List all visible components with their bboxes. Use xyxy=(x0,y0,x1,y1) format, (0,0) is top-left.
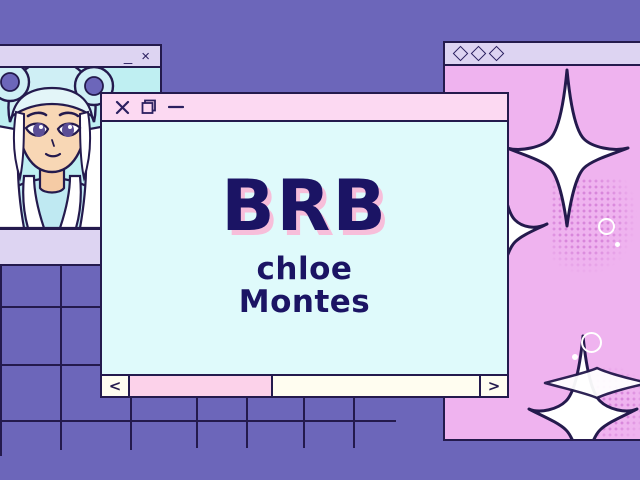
sparkle-star-bottom xyxy=(543,366,640,400)
restore-window-icon[interactable] xyxy=(141,99,157,115)
diamond-icon xyxy=(453,46,469,62)
scroll-left-button[interactable]: < xyxy=(102,376,130,396)
sparkles-panel-titlebar xyxy=(445,43,640,66)
halftone-dots xyxy=(565,366,640,439)
grid-line-horizontal xyxy=(0,306,100,308)
minimize-icon[interactable] xyxy=(168,103,184,111)
diamond-icon xyxy=(489,46,505,62)
subtitle-line-2: Montes xyxy=(239,286,371,319)
brb-window-content: BRB chloe Montes xyxy=(102,122,507,374)
subtitle-line-1: chloe xyxy=(257,253,353,286)
sparkle-star-large xyxy=(505,68,630,228)
close-icon[interactable] xyxy=(115,100,130,115)
decor-dot-icon xyxy=(572,354,578,360)
scrollbar-thumb[interactable] xyxy=(130,376,273,396)
screenshot-canvas: _ × xyxy=(0,0,640,480)
scroll-right-button[interactable]: > xyxy=(479,376,507,396)
grid-line-horizontal xyxy=(0,364,100,366)
scrollbar-track[interactable] xyxy=(130,376,479,396)
decor-dot-icon xyxy=(615,242,620,247)
decor-circle-icon xyxy=(581,332,602,353)
close-icon[interactable]: × xyxy=(141,48,150,65)
grid-line-horizontal xyxy=(0,420,396,422)
page-title: BRB xyxy=(221,171,388,241)
brb-window-titlebar xyxy=(102,94,507,122)
minimize-icon[interactable]: _ xyxy=(124,48,132,65)
brb-window: BRB chloe Montes < > xyxy=(100,92,509,398)
halftone-dots xyxy=(551,178,637,274)
horizontal-scrollbar[interactable]: < > xyxy=(102,374,507,396)
decor-circle-icon xyxy=(598,218,615,235)
diamond-icon xyxy=(471,46,487,62)
grid-line-vertical xyxy=(0,258,2,456)
avatar-window-titlebar: _ × xyxy=(0,46,160,68)
